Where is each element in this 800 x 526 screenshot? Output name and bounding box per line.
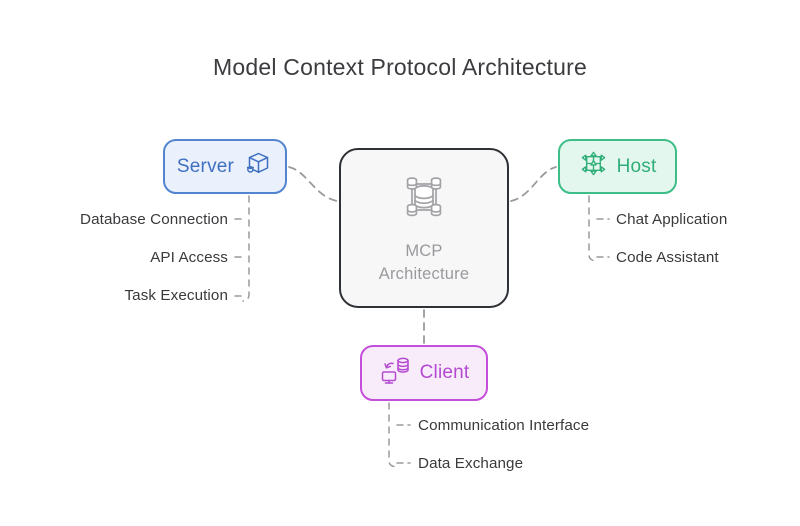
leaf-client-data-exchange: Data Exchange (418, 455, 523, 472)
node-client-label: Client (420, 362, 470, 384)
connector-host-children-trunk (589, 196, 595, 261)
node-host[interactable]: Host (558, 139, 677, 194)
leaf-server-task-execution: Task Execution (0, 287, 228, 304)
leaf-server-database-connection: Database Connection (0, 211, 228, 228)
diagram-canvas: Model Context Protocol Architecture (0, 0, 800, 526)
leaf-client-communication-interface: Communication Interface (418, 417, 589, 434)
node-client[interactable]: Client (360, 345, 488, 401)
node-server-label: Server (177, 156, 234, 178)
node-server[interactable]: Server (163, 139, 287, 194)
leaf-host-code-assistant: Code Assistant (616, 249, 719, 266)
center-title-line2: Architecture (379, 264, 469, 285)
connector-server-to-center (289, 167, 337, 201)
network-hub-icon (579, 149, 608, 184)
package-box-icon (243, 149, 273, 185)
desktop-database-icon (379, 354, 411, 392)
node-mcp-architecture[interactable]: MCP Architecture (339, 148, 509, 308)
leaf-host-chat-application: Chat Application (616, 211, 727, 228)
connector-client-children-trunk (389, 403, 396, 467)
node-host-label: Host (617, 156, 657, 178)
page-title: Model Context Protocol Architecture (0, 54, 800, 81)
connector-server-children-trunk (243, 196, 249, 301)
database-cluster-icon (398, 171, 450, 229)
center-title-line1: MCP (405, 241, 442, 262)
leaf-server-api-access: API Access (0, 249, 228, 266)
connector-center-to-host (511, 167, 556, 201)
